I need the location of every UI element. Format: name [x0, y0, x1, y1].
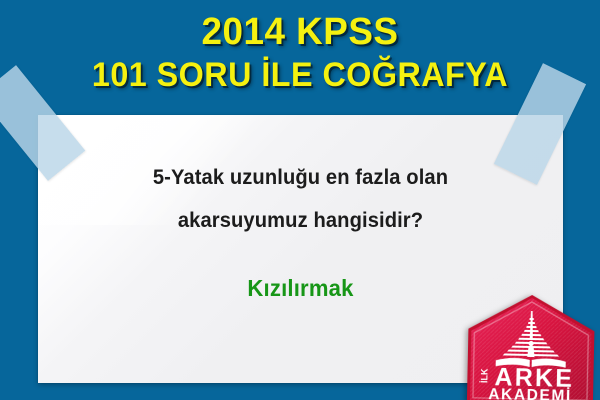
title-line-primary: 2014 KPSS: [9, 0, 591, 51]
answer-text: Kızılırmak: [49, 231, 553, 302]
header: 2014 KPSS 101 SORU İLE COĞRAFYA: [0, 0, 600, 105]
logo-brand-small: İLK: [479, 368, 489, 383]
question-line-1: 5-Yatak uzunluğu en fazla olan: [49, 115, 553, 188]
logo-brand-sub: AKADEMİ: [488, 386, 572, 400]
slide-canvas: 2014 KPSS 101 SORU İLE COĞRAFYA 5-Yatak …: [0, 0, 600, 400]
arke-akademi-logo: İLK ARKE AKADEMİ: [465, 293, 597, 400]
logo-shield-icon: İLK ARKE AKADEMİ: [465, 293, 597, 400]
question-line-2: akarsuyumuz hangisidir?: [49, 188, 553, 231]
title-line-secondary: 101 SORU İLE COĞRAFYA: [15, 51, 585, 92]
